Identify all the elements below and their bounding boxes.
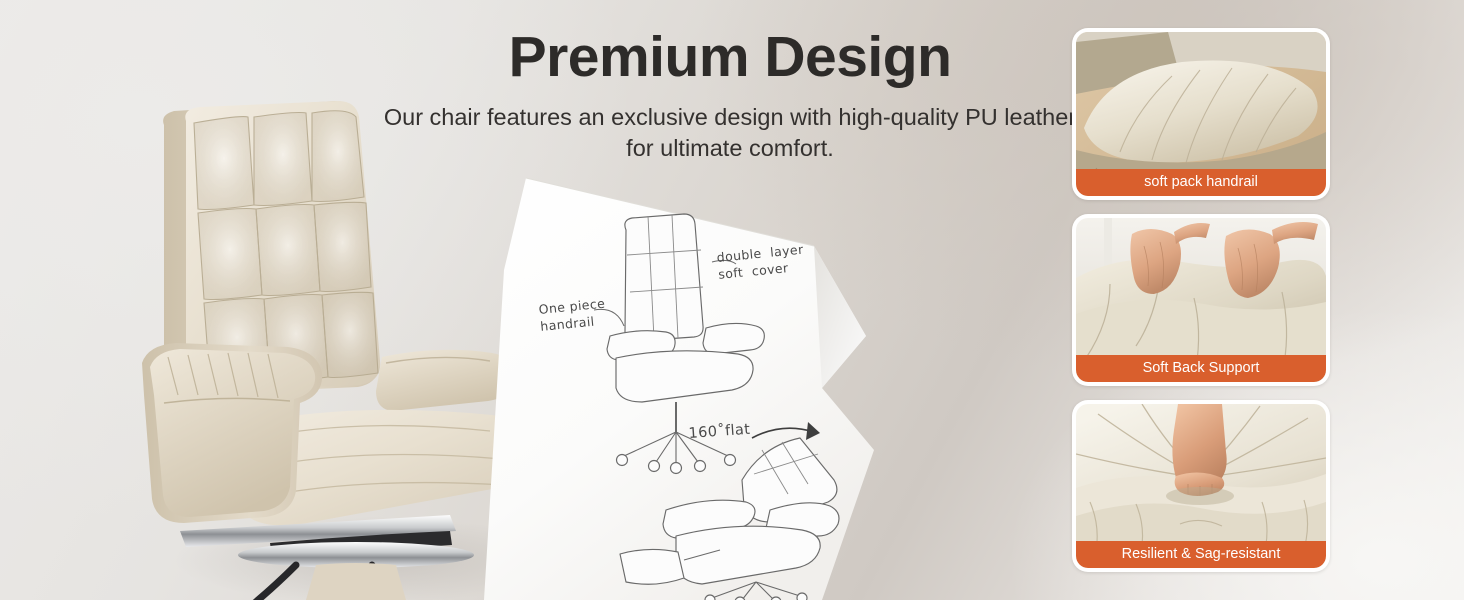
card-caption-back-support: Soft Back Support [1076, 355, 1326, 382]
feature-cards-list: soft pack handrail [1072, 28, 1330, 586]
card-media-handrail: soft pack handrail [1076, 32, 1326, 196]
sketch-annotation-handrail: One piece handrail [538, 296, 608, 335]
card-media-back-support: Soft Back Support [1076, 218, 1326, 382]
feature-card-resilient-sag-resistant[interactable]: Resilient & Sag-resistant [1072, 400, 1330, 572]
feature-card-soft-pack-handrail[interactable]: soft pack handrail [1072, 28, 1330, 200]
product-feature-banner: One piece handrail double layer soft cov… [0, 0, 1464, 600]
card-caption-resilient: Resilient & Sag-resistant [1076, 541, 1326, 568]
subtitle: Our chair features an exclusive design w… [380, 102, 1080, 165]
card-media-resilient: Resilient & Sag-resistant [1076, 404, 1326, 568]
subtitle-line-2: for ultimate comfort. [380, 133, 1080, 164]
subtitle-line-1: Our chair features an exclusive design w… [380, 102, 1080, 133]
card-caption-handrail: soft pack handrail [1076, 169, 1326, 196]
headline-block: Premium Design Our chair features an exc… [380, 28, 1080, 164]
feature-card-soft-back-support[interactable]: Soft Back Support [1072, 214, 1330, 386]
page-title: Premium Design [380, 28, 1080, 88]
sketch-paper: One piece handrail double layer soft cov… [470, 150, 930, 600]
